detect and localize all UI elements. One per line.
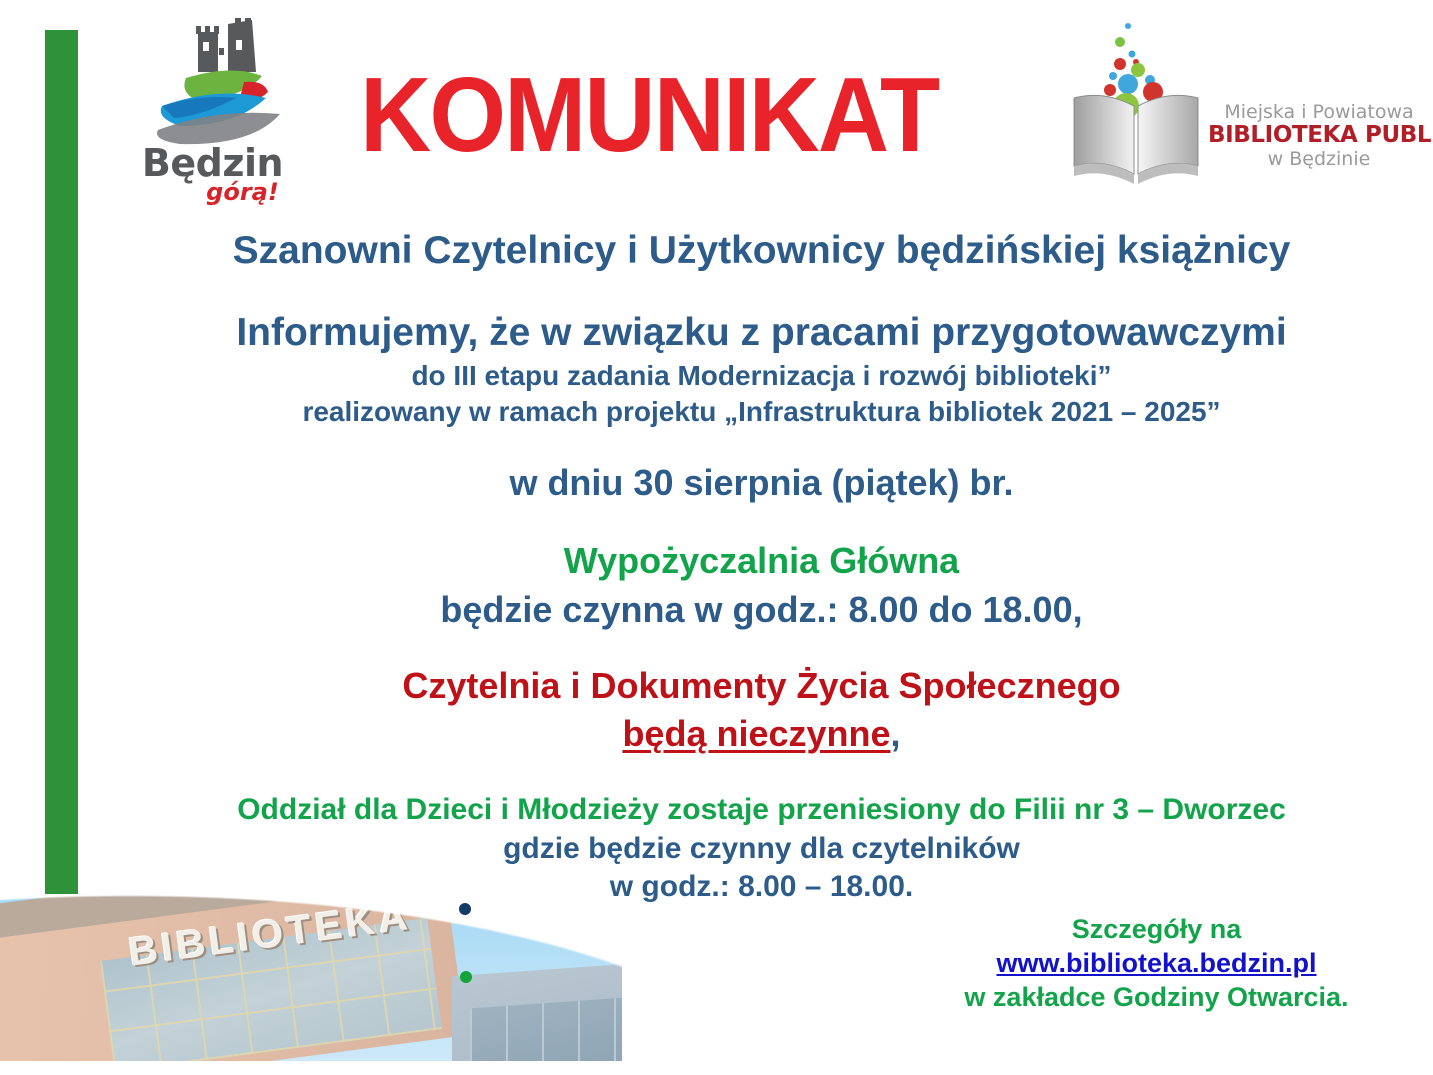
library-website-link[interactable]: www.biblioteka.bedzin.pl	[996, 948, 1316, 978]
poster-header: Będzin górą! KOMUNIKAT	[0, 0, 1433, 208]
decorative-blue-dot	[459, 903, 471, 915]
greeting-line: Szanowni Czytelnicy i Użytkownicy będziń…	[90, 229, 1433, 273]
czytelnia-closed-comma: ,	[891, 713, 901, 754]
library-logo: Miejska i Powiatowa BIBLIOTEKA PUBLICZNA…	[1068, 6, 1428, 202]
czytelnia-title: Czytelnia i Dokumenty Życia Społecznego	[90, 666, 1433, 706]
library-logo-text: Miejska i Powiatowa BIBLIOTEKA PUBLICZNA…	[1208, 102, 1430, 170]
page-title: KOMUNIKAT	[360, 62, 918, 168]
contact-url-wrapper: www.biblioteka.bedzin.pl	[880, 947, 1433, 981]
oddzial-gdzie-line: gdzie będzie czynny dla czytelników	[90, 832, 1433, 866]
photo-sky: BIBLIOTEKA	[0, 875, 622, 1075]
library-logo-line1: Miejska i Powiatowa	[1208, 102, 1430, 123]
wypozyczalnia-hours: będzie czynna w godz.: 8.00 do 18.00,	[90, 590, 1433, 630]
photo-bottom-edge	[0, 1061, 622, 1075]
library-logo-line2: BIBLIOTEKA PUBLICZNA	[1208, 123, 1430, 149]
date-line: w dniu 30 sierpnia (piątek) br.	[90, 463, 1433, 503]
czytelnia-closed-text: będą nieczynne	[622, 713, 890, 754]
contact-tab-hint: w zakładce Godziny Otwarcia.	[880, 981, 1433, 1015]
czytelnia-status-line: będą nieczynne,	[90, 714, 1433, 754]
wypozyczalnia-title: Wypożyczalnia Główna	[90, 541, 1433, 581]
library-logo-line3: w Będzinie	[1208, 149, 1430, 170]
open-book-icon	[1068, 14, 1210, 194]
library-building-photo: BIBLIOTEKA	[0, 875, 622, 1075]
komunikat-poster: Będzin górą! KOMUNIKAT	[0, 0, 1433, 1075]
bedzin-city-logo: Będzin górą!	[120, 18, 305, 208]
oddzial-line: Oddział dla Dzieci i Młodzieży zostaje p…	[90, 793, 1433, 827]
info-line: Informujemy, że w związku z pracami przy…	[90, 311, 1433, 355]
contact-block: Szczegóły na www.biblioteka.bedzin.pl w …	[880, 913, 1433, 1014]
announcement-body: Szanowni Czytelnicy i Użytkownicy będziń…	[90, 215, 1433, 903]
contact-details-label: Szczegóły na	[880, 913, 1433, 947]
bedzin-castle-icon	[140, 18, 290, 150]
info-sub-line-1: do III etapu zadania Modernizacja i rozw…	[90, 360, 1433, 391]
decorative-green-dot	[460, 971, 472, 983]
bedzin-wordmark: Będzin	[120, 144, 305, 182]
bedzin-tagline: górą!	[180, 180, 305, 204]
info-sub-line-2: realizowany w ramach projektu „Infrastru…	[90, 396, 1433, 427]
